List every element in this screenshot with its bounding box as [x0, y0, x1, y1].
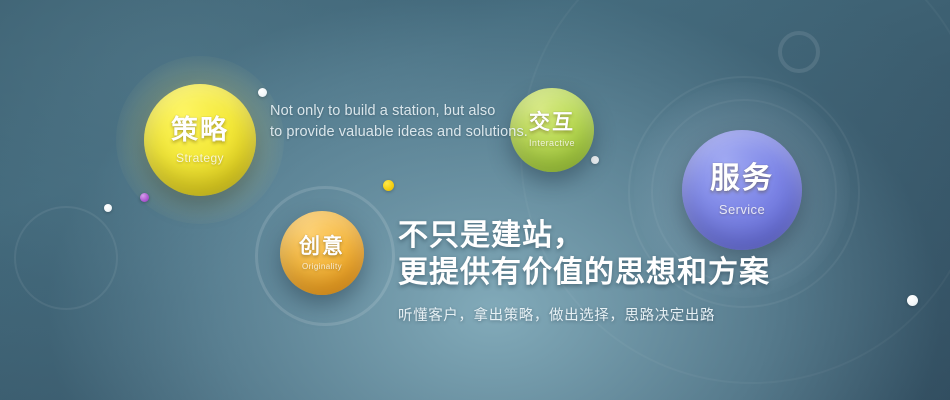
sphere-service-title: 服务 [710, 164, 774, 194]
dot-white-top [258, 88, 267, 97]
sphere-interactive-subtitle: Interactive [529, 139, 575, 148]
headline-subtitle: 听懂客户，拿出策略，做出选择，思路决定出路 [398, 304, 770, 325]
sphere-strategy-title: 策略 [171, 117, 229, 144]
hero-banner: 策略 Strategy 交互 Interactive 创意 Originalit… [0, 0, 950, 400]
headline-block: 不只是建站， 更提供有价值的思想和方案 听懂客户，拿出策略，做出选择，思路决定出… [398, 218, 770, 325]
sphere-strategy[interactable]: 策略 Strategy [144, 84, 256, 196]
intro-copy: Not only to build a station, but also to… [270, 101, 528, 143]
sphere-interactive-title: 交互 [529, 112, 575, 133]
headline-line-1: 不只是建站， [398, 218, 770, 255]
sphere-originality-title: 创意 [299, 236, 345, 257]
dot-white-mid [591, 156, 599, 164]
dot-purple [140, 193, 149, 202]
sphere-service-subtitle: Service [719, 203, 765, 216]
sphere-originality-subtitle: Originality [302, 263, 342, 271]
dot-white-left [104, 204, 112, 212]
decorative-ring-top-right [778, 31, 820, 73]
intro-copy-line1: Not only to build a station, but also [270, 101, 528, 122]
sphere-strategy-subtitle: Strategy [176, 152, 224, 164]
sphere-originality[interactable]: 创意 Originality [280, 211, 364, 295]
dot-yellow [383, 180, 394, 191]
dot-white-right [907, 295, 918, 306]
decorative-ring-lower-left [14, 206, 118, 310]
intro-copy-line2: to provide valuable ideas and solutions. [270, 122, 528, 143]
headline-line-2: 更提供有价值的思想和方案 [398, 255, 770, 292]
